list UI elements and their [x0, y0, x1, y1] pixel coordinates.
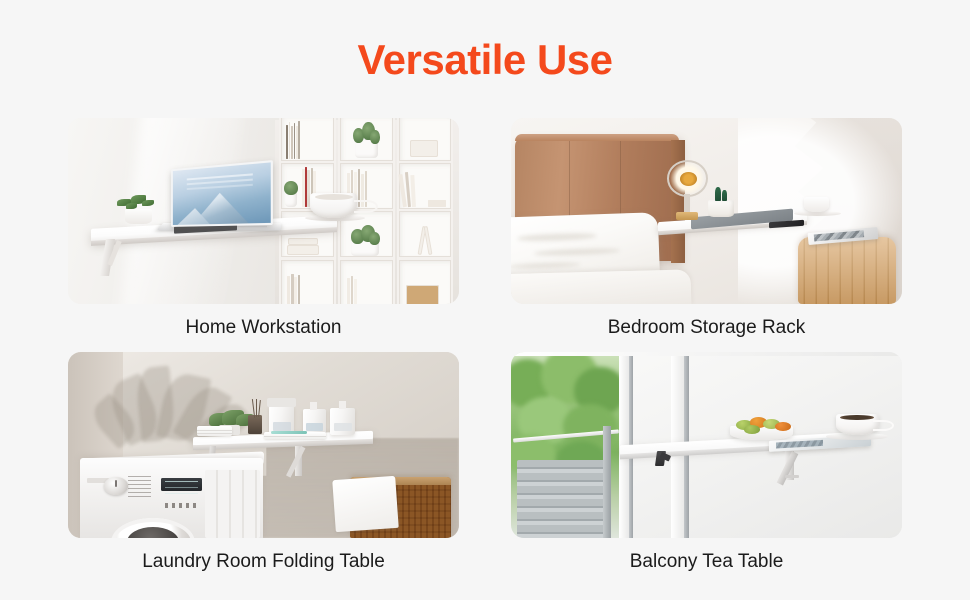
panel-caption: Balcony Tea Table [511, 551, 902, 573]
infographic-page: Versatile Use [0, 0, 970, 600]
lamp-bulb [680, 172, 697, 186]
panel-laundry-room-folding-table: Laundry Room Folding Table [68, 352, 459, 573]
panel-bedroom-storage-rack: Bedroom Storage Rack [511, 118, 902, 339]
mug-interior [315, 194, 353, 200]
panel-home-workstation: Home Workstation [68, 118, 459, 339]
washer-drum [127, 527, 179, 538]
cactus-pot [708, 200, 733, 217]
dial-marker [115, 480, 117, 487]
panel-caption: Laundry Room Folding Table [68, 551, 459, 573]
coffee-liquid [840, 415, 874, 420]
washer-dial[interactable] [104, 477, 129, 494]
headboard-side [671, 140, 684, 263]
washer-door[interactable] [111, 518, 196, 538]
panel-caption: Bedroom Storage Rack [511, 317, 902, 339]
washer-display [161, 478, 202, 491]
photo-home-workstation [68, 118, 459, 304]
duvet [511, 270, 691, 304]
dial-ticks [128, 476, 151, 499]
lamp-base [676, 212, 698, 220]
page-title: Versatile Use [0, 36, 970, 84]
washer-buttons[interactable] [165, 503, 200, 508]
mug-handle [354, 200, 377, 213]
wooden-slat-bench [798, 237, 896, 304]
desk-plant-pot [125, 209, 152, 224]
photo-laundry-room-folding-table [68, 352, 459, 538]
bench-shading [798, 237, 896, 304]
teacup [804, 197, 829, 212]
laptop-screen [171, 160, 272, 227]
washing-machine [80, 458, 264, 538]
cup-handle [873, 420, 895, 431]
photo-bedroom-storage-rack [511, 118, 902, 304]
balcony-railing [517, 460, 611, 538]
magazine-cover-art [814, 229, 865, 241]
basket-towel [332, 476, 398, 532]
photo-balcony-tea-table [511, 352, 902, 538]
wallpaper-text-lines [187, 173, 253, 180]
display-text [165, 481, 198, 483]
headboard-top-edge [515, 134, 679, 141]
panel-balcony-tea-table: Balcony Tea Table [511, 352, 902, 573]
washer-side-panels [205, 470, 260, 538]
magazine-cover-art [776, 440, 823, 448]
washer-control-panel [104, 476, 207, 499]
panel-caption: Home Workstation [68, 317, 459, 339]
shelf-bracket-foot [785, 475, 799, 478]
